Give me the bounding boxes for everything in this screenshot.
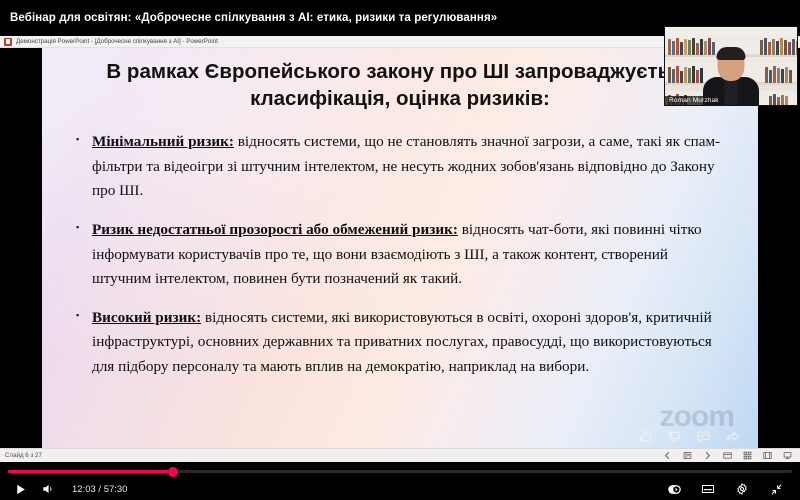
webcam-overlay[interactable]: Roman Murzhak	[664, 26, 798, 106]
books-group	[765, 65, 792, 83]
powerpoint-title-label: Демонстрація PowerPoint - [Доброчесне сп…	[16, 36, 218, 48]
player-button-row: 12:03 / 57:30	[0, 478, 800, 500]
list-item: ▪ Ризик недостатньої прозорості або обме…	[76, 218, 728, 292]
comment-icon[interactable]	[696, 429, 711, 444]
player-right-controls	[664, 480, 800, 498]
books-group	[760, 37, 798, 55]
volume-icon[interactable]	[38, 480, 58, 498]
participant-name-label: Roman Murzhak	[665, 96, 724, 105]
subtitles-icon[interactable]	[698, 480, 718, 498]
play-icon[interactable]	[10, 480, 30, 498]
bullet-body: Мінімальний ризик: відносять системи, що…	[92, 130, 728, 204]
slide-menu-icon[interactable]	[683, 451, 692, 460]
share-icon[interactable]	[725, 429, 740, 444]
slide-bullet-list: ▪ Мінімальний ризик: відносять системи, …	[76, 130, 728, 380]
thumbs-up-icon[interactable]	[638, 429, 653, 444]
reading-view-icon[interactable]	[763, 451, 772, 460]
bullet-marker: ▪	[76, 218, 92, 292]
previous-slide-icon[interactable]	[663, 451, 672, 460]
bullet-body: Ризик недостатньої прозорості або обмеже…	[92, 218, 728, 292]
powerpoint-view-controls	[663, 451, 800, 460]
bullet-lead: Мінімальний ризик:	[92, 133, 234, 150]
powerpoint-icon	[4, 38, 12, 46]
powerpoint-status-bar: Слайд 6 з 27	[0, 448, 800, 462]
slide-title: В рамках Європейського закону про ШІ зап…	[82, 58, 718, 112]
slideshow-view-icon[interactable]	[783, 451, 792, 460]
zoom-reaction-bar	[638, 429, 740, 444]
settings-gear-icon[interactable]	[732, 480, 752, 498]
video-title: Вебінар для освітян: «Доброчесне спілкув…	[0, 12, 497, 24]
participant-hair	[717, 47, 746, 60]
presentation-slide: В рамках Європейського закону про ШІ зап…	[42, 48, 758, 448]
books-group	[769, 93, 788, 106]
video-player-controls: 12:03 / 57:30	[0, 462, 800, 500]
progress-handle[interactable]	[168, 467, 178, 477]
list-item: ▪ Високий ризик: відносять системи, які …	[76, 306, 728, 380]
thumbs-down-icon[interactable]	[667, 429, 682, 444]
bullet-marker: ▪	[76, 306, 92, 380]
slide-counter: Слайд 6 з 27	[0, 452, 42, 459]
time-display: 12:03 / 57:30	[72, 484, 127, 495]
next-slide-icon[interactable]	[703, 451, 712, 460]
bullet-lead: Ризик недостатньої прозорості або обмеже…	[92, 221, 458, 238]
books-group	[668, 65, 703, 83]
bullet-marker: ▪	[76, 130, 92, 204]
zoom-watermark: zoom	[660, 402, 734, 432]
bullet-body: Високий ризик: відносять системи, які ви…	[92, 306, 728, 380]
bullet-lead: Високий ризик:	[92, 309, 201, 326]
progress-played	[8, 470, 173, 473]
list-item: ▪ Мінімальний ризик: відносять системи, …	[76, 130, 728, 204]
progress-bar[interactable]	[8, 470, 792, 473]
exit-fullscreen-icon[interactable]	[766, 480, 786, 498]
video-player-page: Вебінар для освітян: «Доброчесне спілкув…	[0, 0, 800, 500]
slide-stage: В рамках Європейського закону про ШІ зап…	[0, 48, 800, 448]
normal-view-icon[interactable]	[723, 451, 732, 460]
theater-mode-icon[interactable]	[664, 480, 684, 498]
slide-sorter-icon[interactable]	[743, 451, 752, 460]
